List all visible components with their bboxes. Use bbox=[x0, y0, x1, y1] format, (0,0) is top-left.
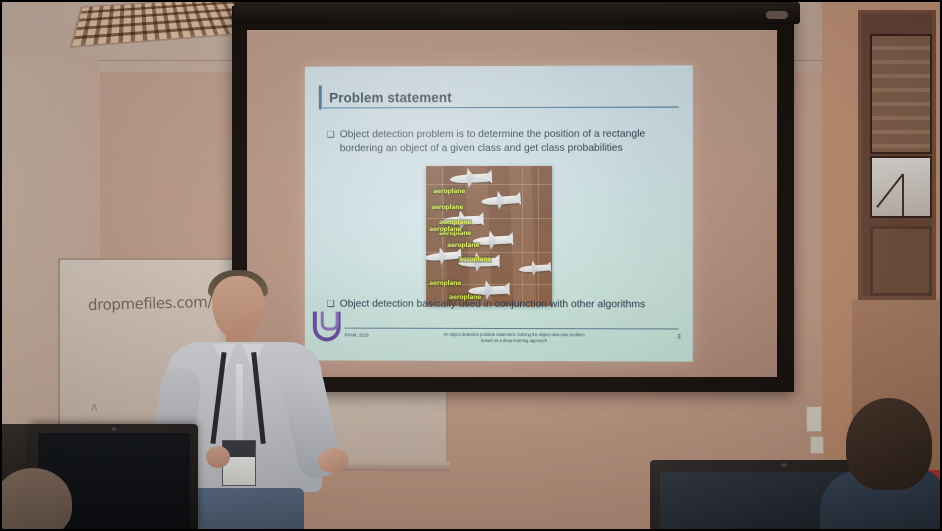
projection-screen-roller bbox=[234, 2, 800, 24]
detection-label: aeroplane bbox=[428, 280, 462, 287]
window-blinds bbox=[870, 34, 932, 154]
detected-aeroplane bbox=[519, 264, 552, 272]
title-accent-bar bbox=[319, 86, 321, 110]
footer-title-line-2: based on a deep learning approach bbox=[414, 338, 614, 345]
detection-label: aeroplane bbox=[432, 188, 466, 195]
whiteboard-marks: ∧ bbox=[90, 400, 99, 414]
bullet-text: Object detection basically used in conju… bbox=[340, 298, 645, 313]
wall-socket[interactable] bbox=[810, 436, 824, 454]
detection-label: aeroplane bbox=[430, 204, 464, 211]
ceiling-light-panel bbox=[70, 0, 257, 48]
window-lower-panel bbox=[870, 226, 932, 296]
footer-divider bbox=[345, 328, 679, 330]
audience-head-right bbox=[846, 398, 932, 490]
bullet-marker-icon: ❑ bbox=[327, 128, 335, 140]
bullet-list-top: ❑ Object detection problem is to determi… bbox=[327, 128, 677, 157]
detection-label: aeroplane bbox=[438, 219, 472, 226]
footer-title-text: An object detection problem statement. S… bbox=[414, 332, 614, 345]
presenter-hand-left bbox=[206, 446, 230, 468]
bullet-item: ❑ Object detection basically used in con… bbox=[327, 298, 677, 313]
detection-figure: aeroplane aeroplane aeroplane aeroplane … bbox=[426, 166, 552, 306]
bullet-list-bottom: ❑ Object detection basically used in con… bbox=[327, 298, 677, 313]
detection-label: aeroplane bbox=[458, 256, 492, 263]
detected-aeroplane bbox=[450, 173, 493, 184]
projected-slide: Problem statement ❑ Object detection pro… bbox=[305, 65, 693, 361]
slide-title: Problem statement bbox=[329, 90, 452, 105]
detection-label: aeroplane bbox=[428, 226, 462, 233]
bullet-text: Object detection problem is to determine… bbox=[340, 128, 677, 157]
detection-label: aeroplane bbox=[446, 242, 480, 249]
webcam-icon bbox=[112, 427, 117, 431]
slide-page-number: 3 bbox=[677, 335, 680, 341]
window-glass bbox=[870, 156, 932, 218]
presenter-jeans bbox=[182, 488, 304, 531]
wall-switch[interactable] bbox=[806, 406, 822, 432]
bullet-item: ❑ Object detection problem is to determi… bbox=[327, 128, 677, 157]
photo-scene: dropmefiles.com/6FIhr ∧ Problem statemen… bbox=[0, 0, 942, 531]
window-frame bbox=[858, 10, 936, 300]
presenter-head bbox=[212, 276, 264, 338]
detected-aeroplane bbox=[481, 195, 521, 205]
screen-roller-knob[interactable] bbox=[766, 11, 788, 19]
webcam-icon bbox=[782, 463, 787, 467]
